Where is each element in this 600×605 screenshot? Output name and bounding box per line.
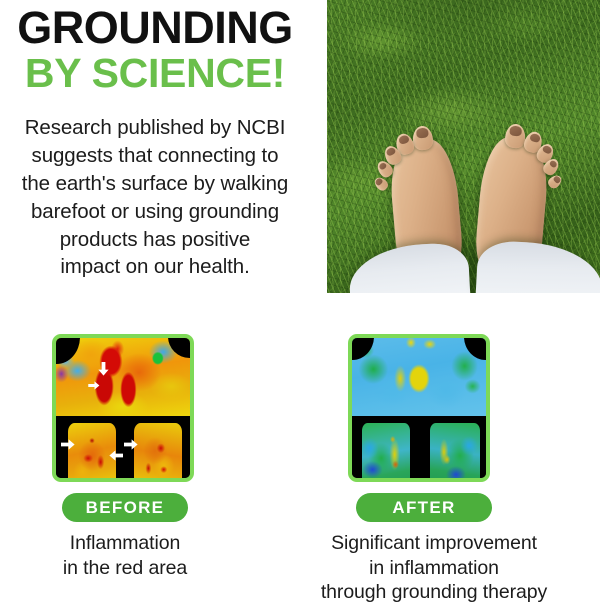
toenail — [542, 145, 553, 155]
caption-before: Inflammation in the red area — [10, 531, 240, 580]
thermal-leg-region — [134, 423, 182, 482]
intro-paragraph: Research published by NCBI suggests that… — [2, 114, 308, 281]
arrow-right-icon — [88, 381, 100, 390]
caption-line: through grounding therapy — [284, 580, 584, 605]
status-badge-before: BEFORE — [62, 493, 188, 522]
thermal-thigh-region — [352, 338, 486, 416]
caption-line: in the red area — [10, 556, 240, 581]
thermal-divider — [56, 416, 190, 423]
intro-line: barefoot or using grounding — [2, 198, 308, 226]
toenail — [378, 161, 388, 171]
arrow-right-icon — [124, 439, 138, 450]
hero-photo-bare-feet-on-grass — [327, 0, 600, 293]
thermal-image-after — [348, 334, 490, 482]
thermal-leg-gap — [182, 423, 194, 482]
thermal-leg-region — [430, 423, 480, 482]
caption-line: Significant improvement — [284, 531, 584, 556]
status-badge-after: AFTER — [356, 493, 492, 522]
toenail — [549, 159, 559, 169]
page-title-line2: BY SCIENCE! — [0, 52, 310, 95]
toenail — [385, 146, 396, 156]
headline-block: GROUNDING BY SCIENCE! — [0, 4, 310, 95]
toenail — [529, 133, 541, 144]
toenail — [375, 178, 383, 186]
intro-line: suggests that connecting to — [2, 142, 308, 170]
arrow-down-icon — [98, 362, 109, 376]
intro-line: the earth's surface by walking — [2, 170, 308, 198]
thermal-leg-gap — [56, 423, 68, 482]
toenail — [553, 176, 561, 184]
thermal-leg-gap — [352, 423, 362, 482]
toenail — [510, 126, 522, 136]
intro-line: Research published by NCBI — [2, 114, 308, 142]
intro-line: products has positive — [2, 226, 308, 254]
caption-after: Significant improvement in inflammation … — [284, 531, 584, 605]
arrow-right-icon — [61, 439, 75, 450]
thermal-leg-region — [362, 423, 410, 482]
thermal-divider — [352, 416, 486, 423]
toenail — [416, 128, 428, 138]
thermal-scan-after — [352, 338, 486, 478]
toenail — [398, 135, 410, 146]
caption-line: Inflammation — [10, 531, 240, 556]
thermal-leg-gap — [410, 423, 430, 482]
thermal-scan-before — [56, 338, 190, 478]
caption-line: in inflammation — [284, 556, 584, 581]
thermal-leg-gap — [480, 423, 490, 482]
arrow-left-icon — [109, 450, 123, 461]
thermal-image-before — [52, 334, 194, 482]
page-title-line1: GROUNDING — [0, 4, 310, 51]
intro-line: impact on our health. — [2, 253, 308, 281]
